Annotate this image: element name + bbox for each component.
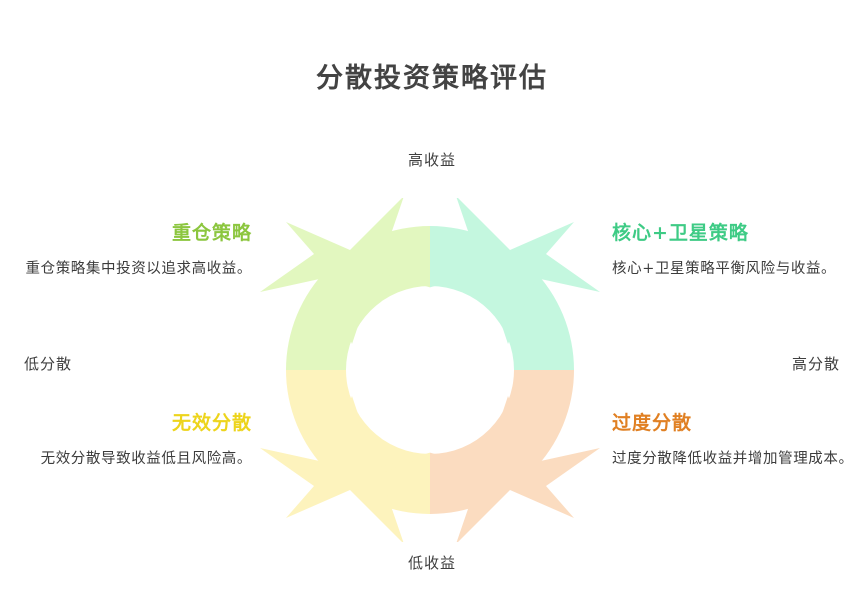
quadrant-shape-bottom-left — [260, 370, 446, 542]
quadrant-block-bottom-left: 无效分散 无效分散导致收益低且风险高。 — [0, 412, 252, 472]
axis-label-bottom: 低收益 — [0, 552, 864, 573]
quadrant-heading-top-right: 核心+卫星策略 — [612, 222, 864, 245]
quadrant-description-bottom-right: 过度分散降低收益并增加管理成本。 — [612, 448, 864, 472]
quadrant-description-bottom-left: 无效分散导致收益低且风险高。 — [0, 448, 252, 472]
axis-label-right: 高分散 — [792, 353, 840, 374]
diagram-canvas: 分散投资策略评估 高收益 低收益 低分散 高分散 — [0, 0, 864, 598]
quadrant-shape-bottom-right — [414, 370, 600, 542]
axis-label-top: 高收益 — [0, 149, 864, 170]
quadrant-ring-diagram — [258, 198, 602, 542]
quadrant-description-top-left: 重仓策略集中投资以追求高收益。 — [0, 258, 252, 282]
quadrant-description-top-right: 核心+卫星策略平衡风险与收益。 — [612, 258, 864, 282]
axis-label-left: 低分散 — [24, 353, 72, 374]
quadrant-heading-top-left: 重仓策略 — [0, 222, 252, 245]
page-title: 分散投资策略评估 — [0, 56, 864, 95]
quadrant-block-top-left: 重仓策略 重仓策略集中投资以追求高收益。 — [0, 222, 252, 282]
quadrant-block-bottom-right: 过度分散 过度分散降低收益并增加管理成本。 — [612, 412, 864, 472]
quadrant-block-top-right: 核心+卫星策略 核心+卫星策略平衡风险与收益。 — [612, 222, 864, 282]
quadrant-shape-top-right — [414, 198, 600, 370]
quadrant-heading-bottom-right: 过度分散 — [612, 412, 864, 435]
quadrant-heading-bottom-left: 无效分散 — [0, 412, 252, 435]
quadrant-shape-top-left — [260, 198, 446, 370]
